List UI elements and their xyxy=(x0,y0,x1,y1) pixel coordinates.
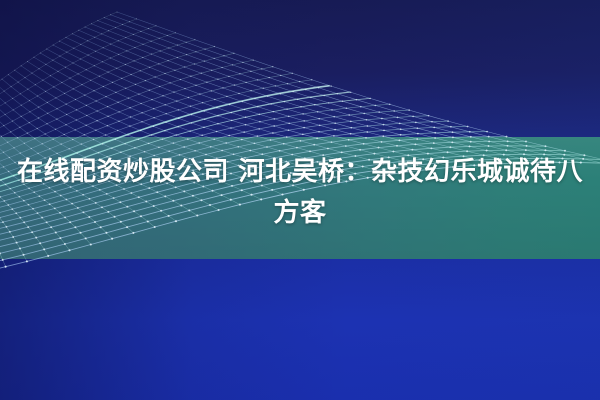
banner-image: 在线配资炒股公司 河北吴桥：杂技幻乐城诚待八方客 xyxy=(0,0,600,400)
title-block: 在线配资炒股公司 河北吴桥：杂技幻乐城诚待八方客 xyxy=(0,152,600,234)
page-title: 在线配资炒股公司 河北吴桥：杂技幻乐城诚待八方客 xyxy=(8,152,592,234)
